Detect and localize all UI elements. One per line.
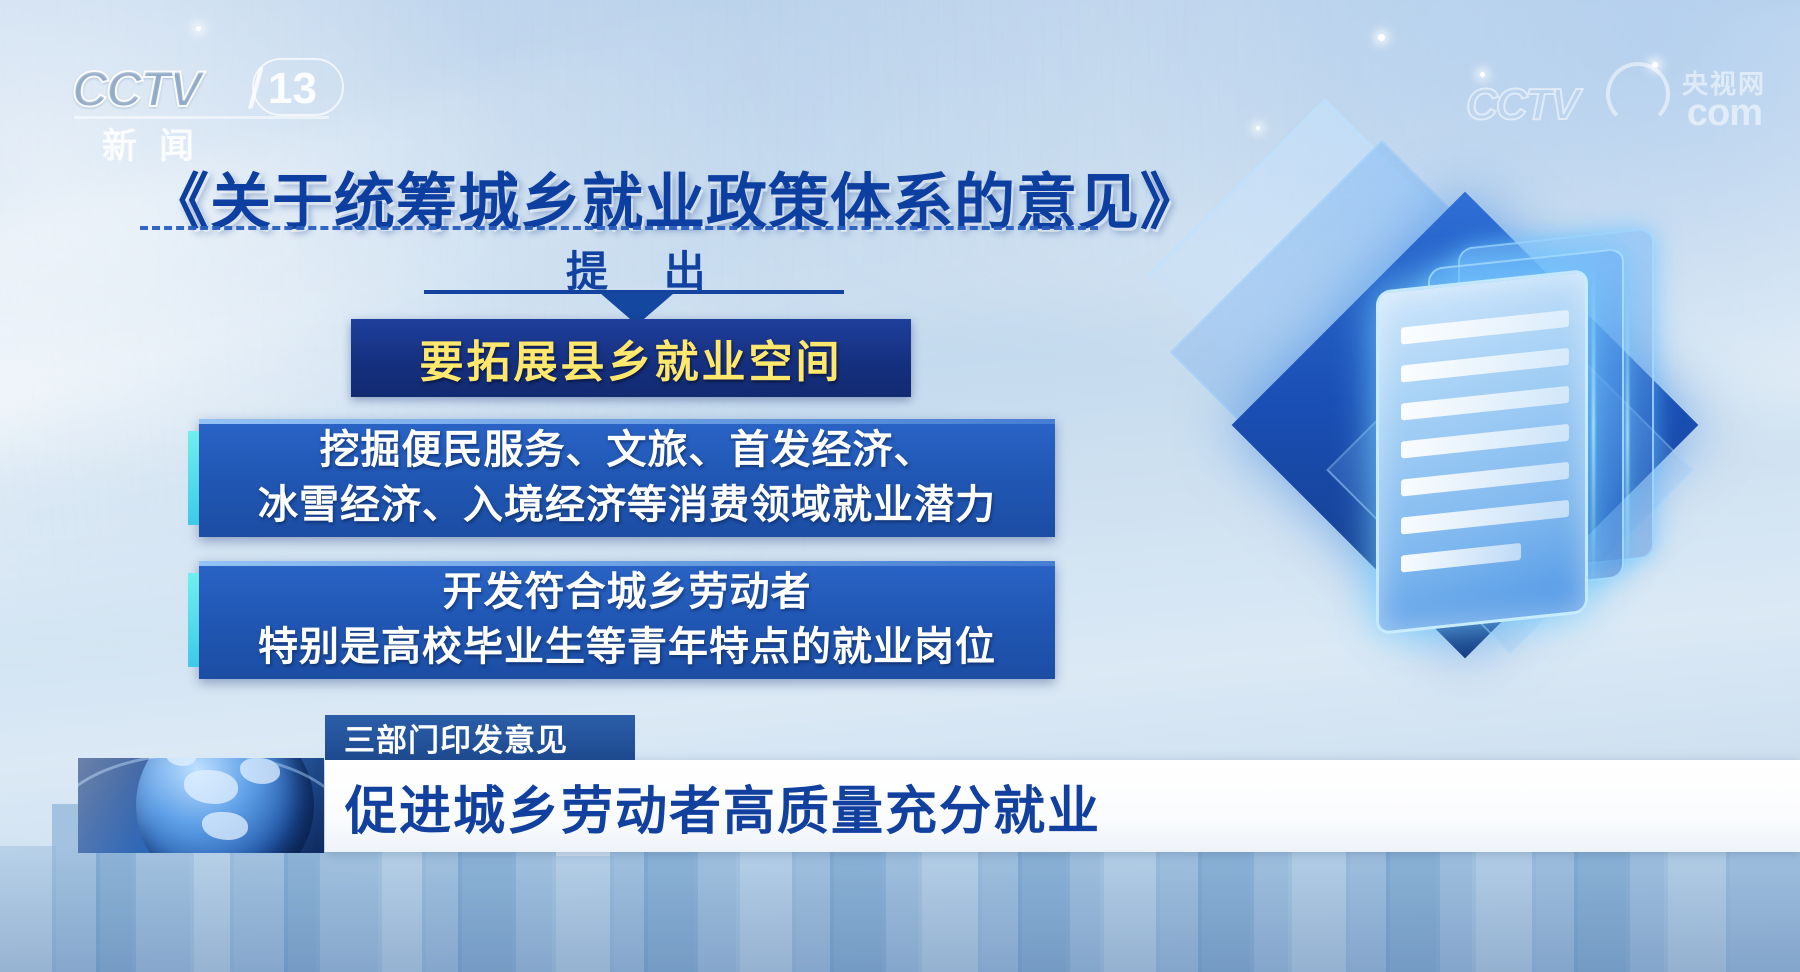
sparkle-icon — [1378, 34, 1385, 41]
sparkle-icon — [196, 26, 201, 31]
point-banner-1: 挖掘便民服务、文旅、首发经济、冰雪经济、入境经济等消费领域就业潜力 — [199, 419, 1055, 537]
lower-third-headline-text: 促进城乡劳动者高质量充分就业 — [345, 769, 1101, 844]
accent-bar — [188, 431, 199, 525]
glow-edge-right — [1592, 260, 1595, 590]
broadcast-frame: CCTV / 13 新闻 CCTV 央视网 com 《关于统筹城乡就业政策体系的… — [0, 0, 1800, 972]
watermark-com-label: com — [1687, 92, 1762, 135]
globe-flare — [78, 758, 188, 853]
bottom-gradient — [0, 852, 1800, 972]
document-card-front — [1376, 269, 1588, 635]
lower-third-kicker: 三部门印发意见 — [325, 715, 635, 760]
title-dashed-underline — [140, 226, 1098, 230]
news-globe-logo — [78, 758, 324, 853]
glow-edge-far-right — [1626, 286, 1629, 586]
document-graphic — [1140, 110, 1800, 730]
highlight-banner: 要拓展县乡就业空间 — [351, 319, 911, 397]
watermark-cctv-wordmark: CCTV — [1466, 80, 1578, 130]
cctv-com-watermark: CCTV 央视网 com — [1466, 58, 1766, 136]
lower-third-headline-bar: 促进城乡劳动者高质量充分就业 — [325, 760, 1800, 852]
point-banner-2: 开发符合城乡劳动者特别是高校毕业生等青年特点的就业岗位 — [199, 561, 1055, 679]
accent-bar — [188, 573, 199, 667]
point-banner-2-text: 开发符合城乡劳动者特别是高校毕业生等青年特点的就业岗位 — [258, 565, 996, 675]
point-banner-1-text: 挖掘便民服务、文旅、首发经济、冰雪经济、入境经济等消费领域就业潜力 — [258, 423, 996, 533]
lower-third-kicker-text: 三部门印发意见 — [344, 715, 568, 760]
watermark-ring-icon — [1606, 62, 1670, 126]
highlight-banner-text: 要拓展县乡就业空间 — [420, 326, 843, 390]
